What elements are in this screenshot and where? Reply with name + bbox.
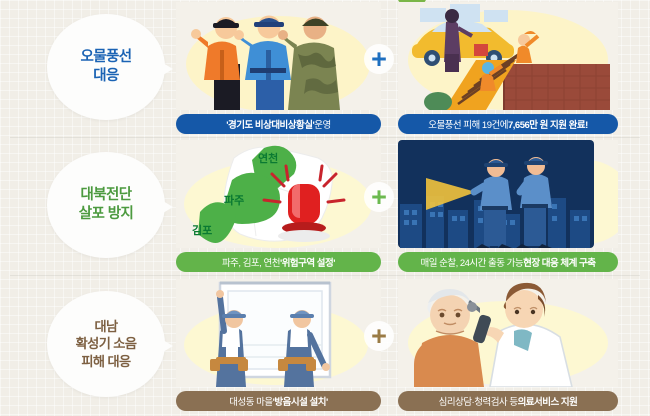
caption-light-1a: 운영 [314, 117, 330, 131]
map-label-yeoncheon: 연천 [258, 151, 278, 165]
caption-bold-1b: 7,656만 원 지원 완료! [508, 117, 588, 131]
caption-light-3a: 대성동 마을 [229, 394, 272, 408]
caption-bold-1a: '경기도 비상대비상황실' [226, 117, 314, 131]
panel-caption-3b: 심리상담·청력검사 등 의료서비스 지원 [398, 391, 618, 411]
panel-3a[interactable]: 대성동 마을 '방음시설 설치' [176, 279, 381, 413]
panel-caption-2a: 파주, 김포, 연천 '위험구역 설정' [176, 252, 381, 272]
panel-2b[interactable]: 매일 순찰, 24시간 출동 가능 현장 대응 체계 구축 [398, 140, 618, 274]
map-label-paju: 파주 [224, 193, 244, 207]
plus-icon-row-1: + [364, 44, 394, 74]
saluting-officers-illustration [176, 2, 381, 110]
panel-caption-2b: 매일 순찰, 24시간 출동 가능 현장 대응 체계 구축 [398, 252, 618, 272]
panel-1b[interactable]: 오물풍선 피해 19건에 7,656만 원 지원 완료! [398, 2, 618, 136]
plus-icon-row-3: + [364, 321, 394, 351]
caption-bold-3b: 의료서비스 지원 [518, 394, 578, 408]
gyeonggi-map-with-siren-illustration: 연천 파주 김포 [176, 140, 381, 248]
taxi-and-roof-repair-illustration [398, 2, 618, 110]
caption-light-1b: 오물풍선 피해 19건에 [428, 117, 508, 131]
row-label-bubble-3: 대남 확성기 소음 피해 대응 [47, 291, 165, 397]
infographic-row-loudspeaker-noise: 대남 확성기 소음 피해 대응 [0, 277, 650, 415]
panel-caption-1b: 오물풍선 피해 19건에 7,656만 원 지원 완료! [398, 114, 618, 134]
plus-icon-row-2: + [364, 182, 394, 212]
panel-caption-1a: '경기도 비상대비상황실' 운영 [176, 114, 381, 134]
panel-caption-3a: 대성동 마을 '방음시설 설치' [176, 391, 381, 411]
row-label-text-2: 대북전단 살포 방지 [79, 186, 133, 224]
row-label-text-1: 오물풍선 대응 [81, 48, 132, 86]
row-label-text-3: 대남 확성기 소음 피해 대응 [76, 318, 137, 370]
caption-light-2a: 파주, 김포, 연천 [222, 255, 280, 269]
infographic-row-leaflet-prevention: 대북전단 살포 방지 연천 파주 [0, 138, 650, 276]
row-divider-2 [10, 275, 640, 276]
row-label-bubble-2: 대북전단 살포 방지 [47, 152, 165, 258]
caption-bold-3a: '방음시설 설치' [273, 394, 328, 408]
night-police-patrol-illustration [398, 140, 618, 248]
panel-2a[interactable]: 연천 파주 김포 파주, 김포, 연천 '위험구역 설정' [176, 140, 381, 274]
caption-light-2b: 매일 순찰, 24시간 출동 가능 [420, 255, 523, 269]
panel-1a[interactable]: '경기도 비상대비상황실' 운영 [176, 2, 381, 136]
caption-bold-2b: 현장 대응 체계 구축 [523, 255, 595, 269]
infographic-row-odor-balloon: 오물풍선 대응 [0, 0, 650, 138]
map-label-gimpo: 김포 [192, 224, 212, 237]
doctor-hearing-exam-illustration [398, 279, 618, 387]
caption-light-3b: 심리상담·청력검사 등 [439, 394, 518, 408]
panel-3b[interactable]: 심리상담·청력검사 등 의료서비스 지원 [398, 279, 618, 413]
caption-bold-2a: '위험구역 설정' [280, 255, 335, 269]
row-label-bubble-1: 오물풍선 대응 [47, 14, 165, 120]
workers-installing-soundproof-window-illustration [176, 279, 381, 387]
infographic-page: 오물풍선 대응 [0, 0, 650, 416]
